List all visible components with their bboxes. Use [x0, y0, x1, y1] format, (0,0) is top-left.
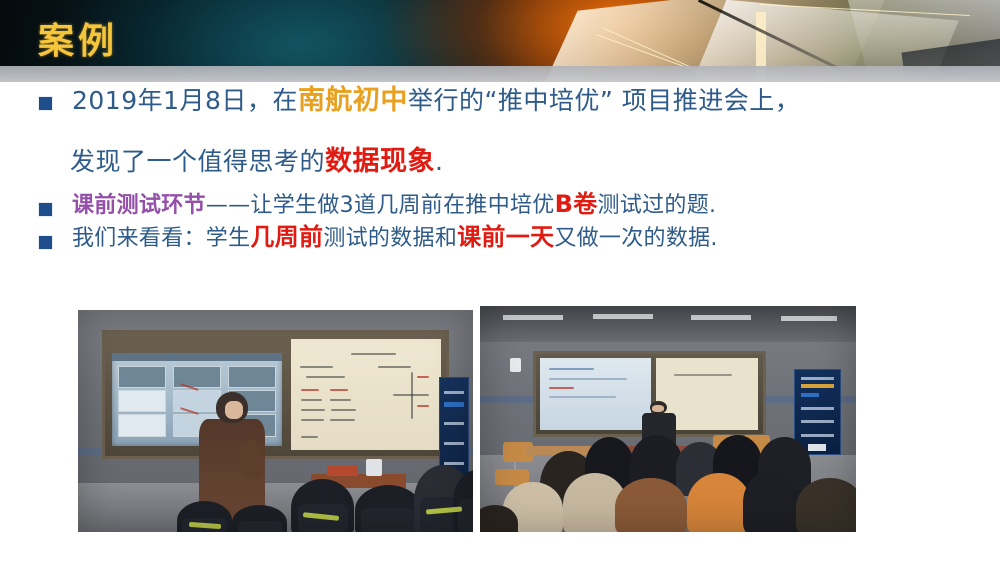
rollup-banner — [794, 369, 841, 455]
projector-toolbar — [112, 353, 283, 361]
bullet-item-1: 2019年1月8日，在南航初中举行的“推中培优” 项目推进会上， — [0, 86, 1000, 115]
whiteboard-writing — [301, 419, 324, 421]
bullet-1-line-1: 2019年1月8日，在南航初中举行的“推中培优” 项目推进会上， — [72, 86, 800, 115]
square-bullet-icon — [38, 96, 53, 111]
audience-member — [796, 478, 856, 532]
screen-text-line — [549, 368, 594, 370]
desk-item — [327, 465, 359, 476]
page-title: 案例 — [38, 12, 118, 64]
banner-heading — [801, 384, 833, 388]
audience-member — [687, 473, 751, 532]
graph-label-red — [417, 405, 429, 407]
banner-text-line — [801, 420, 833, 423]
bullet-3-seg-1: 我们来看看：学生 — [72, 226, 250, 251]
banner-text-line — [801, 377, 833, 380]
speaker-face — [652, 405, 664, 412]
bullet-3-text: 我们来看看：学生几周前测试的数据和课前一天又做一次的数据. — [72, 225, 718, 251]
highlight-data-phenomenon: 数据现象 — [325, 146, 435, 177]
student-back-view — [232, 505, 287, 532]
whiteboard-writing — [331, 409, 355, 411]
audience-member — [743, 469, 803, 532]
wall-speaker — [510, 358, 521, 372]
screen-text-red — [549, 387, 573, 389]
teacher-face — [225, 401, 243, 419]
classroom-ceiling — [480, 306, 856, 342]
banner-bottom-haze — [0, 66, 1000, 82]
bullet-2-line: 课前测试环节——让学生做3道几周前在推中培优B卷测试过的题. — [72, 192, 716, 218]
whiteboard-writing — [330, 399, 351, 401]
banner-text-line — [444, 391, 464, 394]
whiteboard-writing — [300, 366, 333, 368]
whiteboard-writing — [301, 436, 318, 438]
whiteboard — [291, 339, 441, 449]
ceiling-light — [781, 316, 837, 321]
presentation-slide: 案例 2019年1月8日，在南航初中举行的“推中培优” 项目推进会上， 发现了一… — [0, 0, 1000, 562]
banner-text-line — [801, 407, 833, 410]
whiteboard-writing — [378, 366, 411, 368]
student-back-view — [291, 479, 354, 532]
slide-header-banner: 案例 — [0, 0, 1000, 82]
whiteboard-writing — [351, 353, 396, 355]
whiteboard-writing — [674, 374, 731, 376]
bullet-1-seg-2: 举行的“推中培优” 项目推进会上， — [408, 86, 800, 115]
slide-body: 2019年1月8日，在南航初中举行的“推中培优” 项目推进会上， 发现了一个值得… — [0, 86, 1000, 251]
bullet-1b-seg-2: . — [435, 147, 443, 176]
bullet-2-seg-1: ——让学生做3道几周前在推中培优 — [206, 193, 555, 218]
bullet-2-text: 课前测试环节——让学生做3道几周前在推中培优B卷测试过的题. — [72, 192, 716, 218]
whiteboard-writing — [306, 376, 345, 378]
whiteboard-writing — [301, 399, 322, 401]
whiteboard-writing-red — [301, 389, 319, 391]
banner-badge — [801, 393, 819, 397]
banner-text-line — [444, 422, 464, 425]
banner-text-line — [444, 442, 464, 445]
bullet-1b-seg-1: 发现了一个值得思考的 — [70, 147, 325, 176]
board-frame — [102, 330, 450, 459]
bullet-1-text: 2019年1月8日，在南航初中举行的“推中培优” 项目推进会上， — [72, 86, 800, 115]
ceiling-light — [593, 314, 653, 319]
ceiling-light — [503, 315, 563, 320]
bullet-1-line-2: 发现了一个值得思考的数据现象. — [70, 139, 443, 178]
slide-thumbnail — [118, 366, 166, 389]
highlight-pretest-section: 课前测试环节 — [72, 193, 206, 218]
banner-heading — [444, 402, 464, 407]
slide-thumbnail — [228, 366, 276, 389]
whiteboard-writing — [301, 409, 325, 411]
bullet-3-line: 我们来看看：学生几周前测试的数据和课前一天又做一次的数据. — [72, 225, 718, 251]
student-back-view — [355, 485, 422, 532]
bullet-item-3: 我们来看看：学生几周前测试的数据和课前一天又做一次的数据. — [0, 225, 1000, 251]
classroom-photo-teacher-presenting — [78, 310, 473, 532]
highlight-day-before-class: 课前一天 — [457, 223, 554, 251]
square-bullet-icon — [38, 202, 53, 217]
bullet-item-2: 课前测试环节——让学生做3道几周前在推中培优B卷测试过的题. — [0, 192, 1000, 218]
whiteboard-writing — [330, 419, 356, 421]
slide-thumbnail — [118, 390, 166, 413]
graph-label-red — [417, 376, 429, 378]
screen-text-line — [549, 396, 616, 398]
whiteboard-writing-red — [330, 389, 348, 391]
highlight-school-name: 南航初中 — [298, 85, 408, 116]
highlight-paper-b: B卷 — [555, 190, 598, 218]
screen-text-line — [549, 378, 627, 380]
ceiling-light — [691, 315, 751, 320]
projector-screen — [540, 358, 651, 430]
slide-thumbnail — [118, 414, 166, 437]
bullet-3-seg-3: 又做一次的数据. — [554, 226, 717, 251]
bottle — [366, 459, 382, 477]
banner-text-line — [801, 434, 833, 437]
bullet-3-seg-2: 测试的数据和 — [323, 226, 457, 251]
bullet-1-seg-1: 2019年1月8日，在 — [72, 86, 298, 115]
banner-qr-code — [808, 444, 826, 452]
square-bullet-icon — [38, 235, 53, 250]
bullet-item-1-line-2: 发现了一个值得思考的数据现象. — [0, 122, 1000, 178]
highlight-weeks-ago: 几周前 — [250, 223, 323, 251]
classroom-photo-lecture-audience — [480, 306, 856, 532]
audience-member — [615, 478, 686, 532]
bullet-2-seg-2: 测试过的题. — [598, 193, 717, 218]
